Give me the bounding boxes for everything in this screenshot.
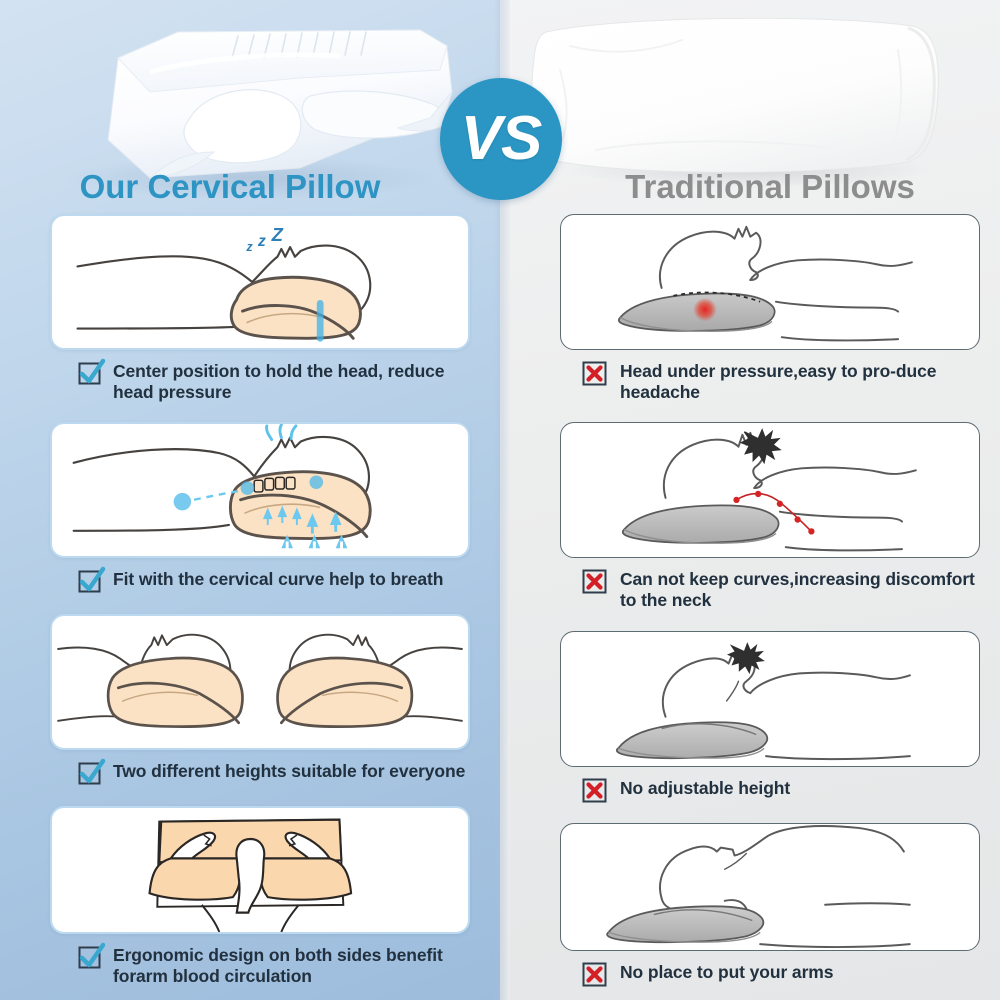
left-column-heading: Our Cervical Pillow — [0, 165, 460, 209]
drawback-row: Head under pressure,easy to pro-duce hea… — [560, 214, 980, 402]
benefit-caption-2: Fit with the cervical curve help to brea… — [50, 558, 470, 594]
comparison-infographic: VS Our Cervical Pillow Traditional Pillo… — [0, 0, 1000, 1000]
cross-icon — [582, 361, 607, 386]
benefit-illustration-2 — [50, 422, 470, 558]
drawback-text: Can not keep curves,increasing discomfor… — [620, 568, 980, 610]
cross-icon — [582, 778, 607, 803]
benefit-caption-1: Center position to hold the head, reduce… — [50, 350, 470, 402]
svg-text:Z: Z — [271, 224, 284, 245]
checkmark-icon — [78, 945, 103, 970]
drawback-row: No place to put your arms — [560, 823, 980, 987]
cervical-pillow-benefit-list: z z Z Center position to hold the head, … — [50, 214, 470, 987]
checkmark-icon — [78, 361, 103, 386]
vs-label: VS — [461, 108, 542, 170]
drawback-row: Can not keep curves,increasing discomfor… — [560, 422, 980, 610]
benefit-row: z z Z Center position to hold the head, … — [50, 214, 470, 402]
drawback-illustration-3 — [560, 631, 980, 767]
drawback-illustration-2 — [560, 422, 980, 558]
vs-badge: VS — [440, 78, 562, 200]
cross-icon — [582, 962, 607, 987]
benefit-caption-3: Two different heights suitable for every… — [50, 750, 470, 786]
svg-text:z: z — [257, 233, 266, 250]
drawback-text: No adjustable height — [620, 777, 790, 799]
checkmark-icon — [78, 761, 103, 786]
cross-icon — [582, 569, 607, 594]
benefit-caption-4: Ergonomic design on both sides benefit f… — [50, 934, 470, 986]
drawback-illustration-4 — [560, 823, 980, 951]
benefit-text: Center position to hold the head, reduce… — [113, 360, 470, 402]
benefit-row: Fit with the cervical curve help to brea… — [50, 422, 470, 594]
drawback-text: Head under pressure,easy to pro-duce hea… — [620, 360, 980, 402]
benefit-illustration-4 — [50, 806, 470, 934]
drawback-text: No place to put your arms — [620, 961, 833, 983]
right-column-heading: Traditional Pillows — [540, 165, 1000, 209]
svg-text:z: z — [245, 240, 253, 254]
benefit-text: Fit with the cervical curve help to brea… — [113, 568, 443, 590]
benefit-row: Ergonomic design on both sides benefit f… — [50, 806, 470, 986]
benefit-row: Two different heights suitable for every… — [50, 614, 470, 786]
checkmark-icon — [78, 569, 103, 594]
drawback-caption-1: Head under pressure,easy to pro-duce hea… — [560, 350, 980, 402]
drawback-row: No adjustable height — [560, 631, 980, 803]
benefit-illustration-1: z z Z — [50, 214, 470, 350]
drawback-illustration-1 — [560, 214, 980, 350]
drawback-caption-2: Can not keep curves,increasing discomfor… — [560, 558, 980, 610]
drawback-caption-4: No place to put your arms — [560, 951, 980, 987]
benefit-text: Two different heights suitable for every… — [113, 760, 465, 782]
benefit-illustration-3 — [50, 614, 470, 750]
drawback-caption-3: No adjustable height — [560, 767, 980, 803]
benefit-text: Ergonomic design on both sides benefit f… — [113, 944, 470, 986]
traditional-pillow-drawback-list: Head under pressure,easy to pro-duce hea… — [560, 214, 980, 987]
